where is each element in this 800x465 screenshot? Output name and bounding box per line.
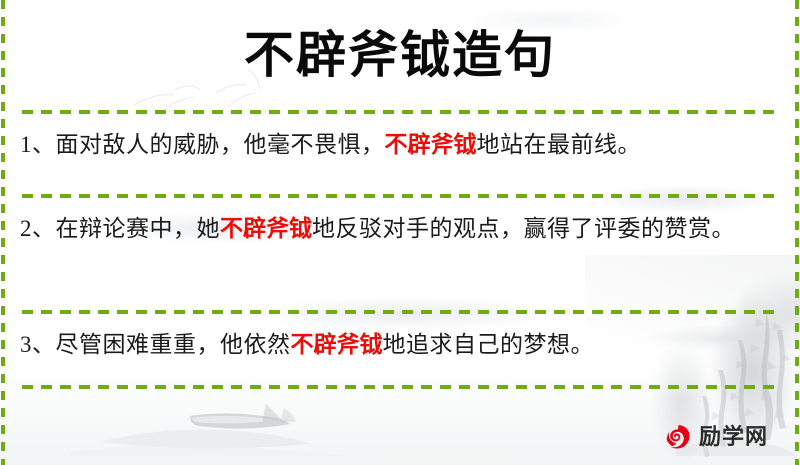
site-logo[interactable]: 励学网 bbox=[662, 423, 768, 453]
sentence-3-text-after: 地追求自己的梦想。 bbox=[383, 332, 595, 357]
divider-after-sentence-2 bbox=[22, 310, 778, 314]
sentence-2-text-before: 在辩论赛中，她 bbox=[56, 216, 221, 241]
frame-right-dashed-border bbox=[795, 0, 799, 465]
slide-page: 不辟斧钺造句 1、面对敌人的威胁，他毫不畏惧，不辟斧钺地站在最前线。 2、在辩论… bbox=[0, 0, 800, 465]
sentence-1-idiom: 不辟斧钺 bbox=[385, 132, 477, 157]
page-title: 不辟斧钺造句 bbox=[0, 26, 800, 84]
frame-left-dashed-border bbox=[1, 0, 5, 465]
sentence-2-number: 2、 bbox=[20, 216, 56, 241]
sentence-2-text-after: 地反驳对手的观点，赢得了评委的赞赏。 bbox=[312, 216, 735, 241]
red-swirl-icon bbox=[662, 423, 692, 453]
example-sentence-1: 1、面对敌人的威胁，他毫不畏惧，不辟斧钺地站在最前线。 bbox=[20, 126, 774, 164]
slide-content: 不辟斧钺造句 1、面对敌人的威胁，他毫不畏惧，不辟斧钺地站在最前线。 2、在辩论… bbox=[0, 0, 800, 465]
example-sentence-2: 2、在辩论赛中，她不辟斧钺地反驳对手的观点，赢得了评委的赞赏。 bbox=[20, 210, 774, 248]
sentence-2-idiom: 不辟斧钺 bbox=[220, 216, 312, 241]
divider-after-sentence-1 bbox=[22, 194, 778, 198]
sentence-3-number: 3、 bbox=[20, 332, 56, 357]
sentence-1-text-after: 地站在最前线。 bbox=[477, 132, 642, 157]
sentence-3-idiom: 不辟斧钺 bbox=[291, 332, 383, 357]
sentence-1-text-before: 面对敌人的威胁，他毫不畏惧， bbox=[56, 132, 385, 157]
divider-below-title bbox=[22, 110, 778, 114]
sentence-1-number: 1、 bbox=[20, 132, 56, 157]
divider-after-sentence-3 bbox=[22, 385, 778, 389]
example-sentence-3: 3、尽管困难重重，他依然不辟斧钺地追求自己的梦想。 bbox=[20, 326, 774, 364]
sentence-3-text-before: 尽管困难重重，他依然 bbox=[56, 332, 291, 357]
site-logo-text: 励学网 bbox=[699, 427, 768, 449]
